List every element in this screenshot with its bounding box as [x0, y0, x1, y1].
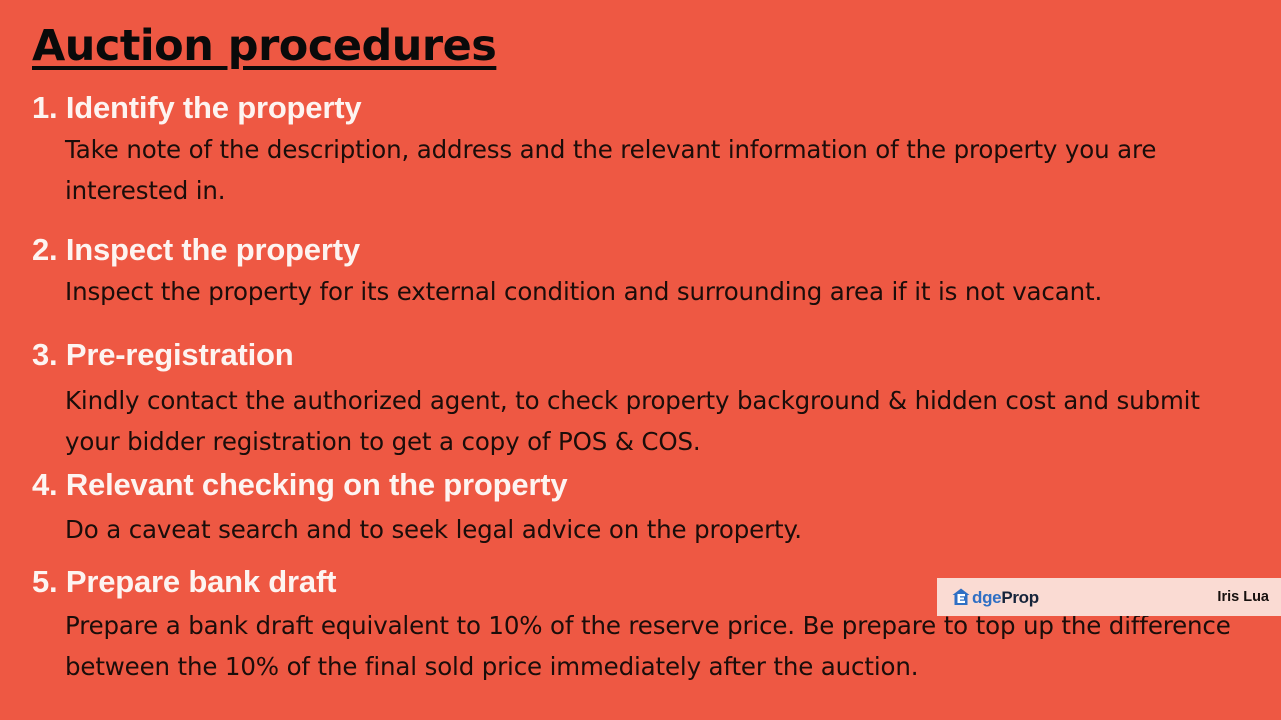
step-body: Kindly contact the authorized agent, to … [0, 375, 1281, 462]
page-title: Auction procedures [32, 20, 496, 72]
step-heading: 3. Pre-registration [0, 312, 1281, 375]
step-heading: 4. Relevant checking on the property [0, 462, 1281, 505]
author-name: Iris Lua [1217, 590, 1269, 605]
step-body: Do a caveat search and to seek legal adv… [0, 505, 1281, 550]
step-body: Inspect the property for its external co… [0, 270, 1281, 312]
brand-watermark-badge: dgeProp Iris Lua [937, 578, 1281, 616]
slide-canvas: Auction procedures 1. Identify the prope… [0, 0, 1281, 720]
list-item: 1. Identify the property Take note of th… [0, 88, 1281, 211]
list-item: 2. Inspect the property Inspect the prop… [0, 211, 1281, 312]
edgeprop-house-icon [951, 587, 971, 607]
list-item: 4. Relevant checking on the property Do … [0, 462, 1281, 550]
brand-edge-text: dge [972, 588, 1001, 607]
list-item: 5. Prepare bank draft Prepare a bank dra… [0, 550, 1281, 687]
edgeprop-logo: dgeProp [951, 587, 1039, 607]
brand-prop-text: Prop [1001, 588, 1039, 607]
step-heading: 1. Identify the property [0, 88, 1281, 128]
step-heading: 2. Inspect the property [0, 211, 1281, 270]
step-body: Take note of the description, address an… [0, 128, 1281, 211]
edgeprop-wordmark: dgeProp [972, 589, 1039, 606]
list-item: 3. Pre-registration Kindly contact the a… [0, 312, 1281, 462]
